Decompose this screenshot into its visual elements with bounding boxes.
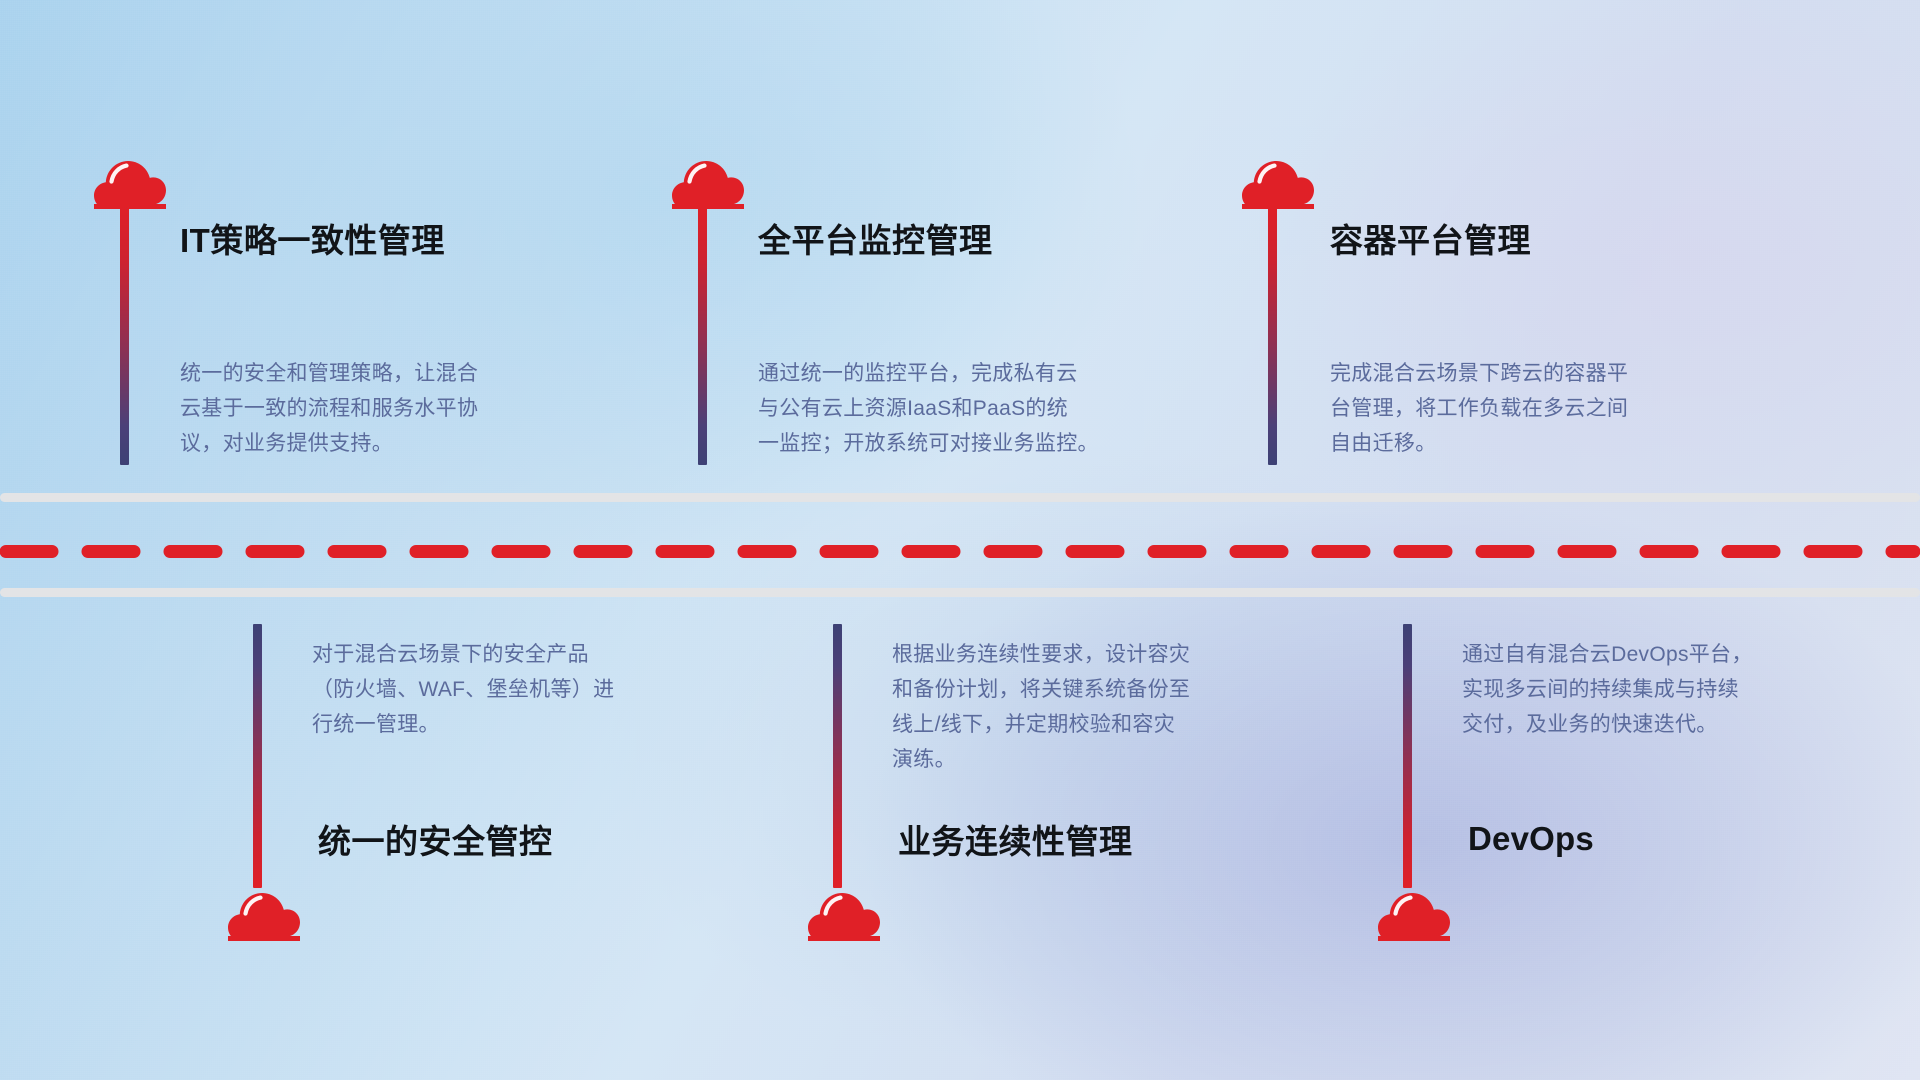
connector-stem <box>120 205 129 465</box>
cloud-icon <box>808 890 880 942</box>
top-node-2-title: 全平台监控管理 <box>758 224 993 257</box>
top-node-3-title: 容器平台管理 <box>1330 224 1531 257</box>
bottom-node-1-title: 统一的安全管控 <box>318 825 553 858</box>
cloud-icon <box>1378 890 1450 942</box>
bottom-node-3-body: 通过自有混合云DevOps平台， 实现多云间的持续集成与持续 交付，及业务的快速… <box>1462 637 1902 742</box>
infographic-canvas: IT策略一致性管理 统一的安全和管理策略，让混合 云基于一致的流程和服务水平协 … <box>0 0 1920 1080</box>
connector-stem <box>1268 205 1277 465</box>
top-node-1-title: IT策略一致性管理 <box>180 224 445 257</box>
bottom-node-2-body: 根据业务连续性要求，设计容灾 和备份计划，将关键系统备份至 线上/线下，并定期校… <box>892 637 1342 777</box>
divider-rail-bottom <box>0 588 1920 597</box>
divider-rail-top <box>0 493 1920 502</box>
connector-stem <box>253 624 262 888</box>
connector-stem <box>833 624 842 888</box>
connector-stem <box>1403 624 1412 888</box>
top-node-1-body: 统一的安全和管理策略，让混合 云基于一致的流程和服务水平协 议，对业务提供支持。 <box>180 356 620 461</box>
cloud-icon <box>94 158 166 210</box>
bottom-node-2-title: 业务连续性管理 <box>898 825 1133 858</box>
bottom-node-3-title: DevOps <box>1468 822 1594 855</box>
cloud-icon <box>672 158 744 210</box>
top-node-2-body: 通过统一的监控平台，完成私有云 与公有云上资源IaaS和PaaS的统 一监控；开… <box>758 356 1218 461</box>
top-node-3-body: 完成混合云场景下跨云的容器平 台管理，将工作负载在多云之间 自由迁移。 <box>1330 356 1780 461</box>
divider-dashed-line <box>0 545 1920 558</box>
connector-stem <box>698 205 707 465</box>
cloud-icon <box>1242 158 1314 210</box>
bottom-node-1-body: 对于混合云场景下的安全产品 （防火墙、WAF、堡垒机等）进 行统一管理。 <box>312 637 752 742</box>
cloud-icon <box>228 890 300 942</box>
